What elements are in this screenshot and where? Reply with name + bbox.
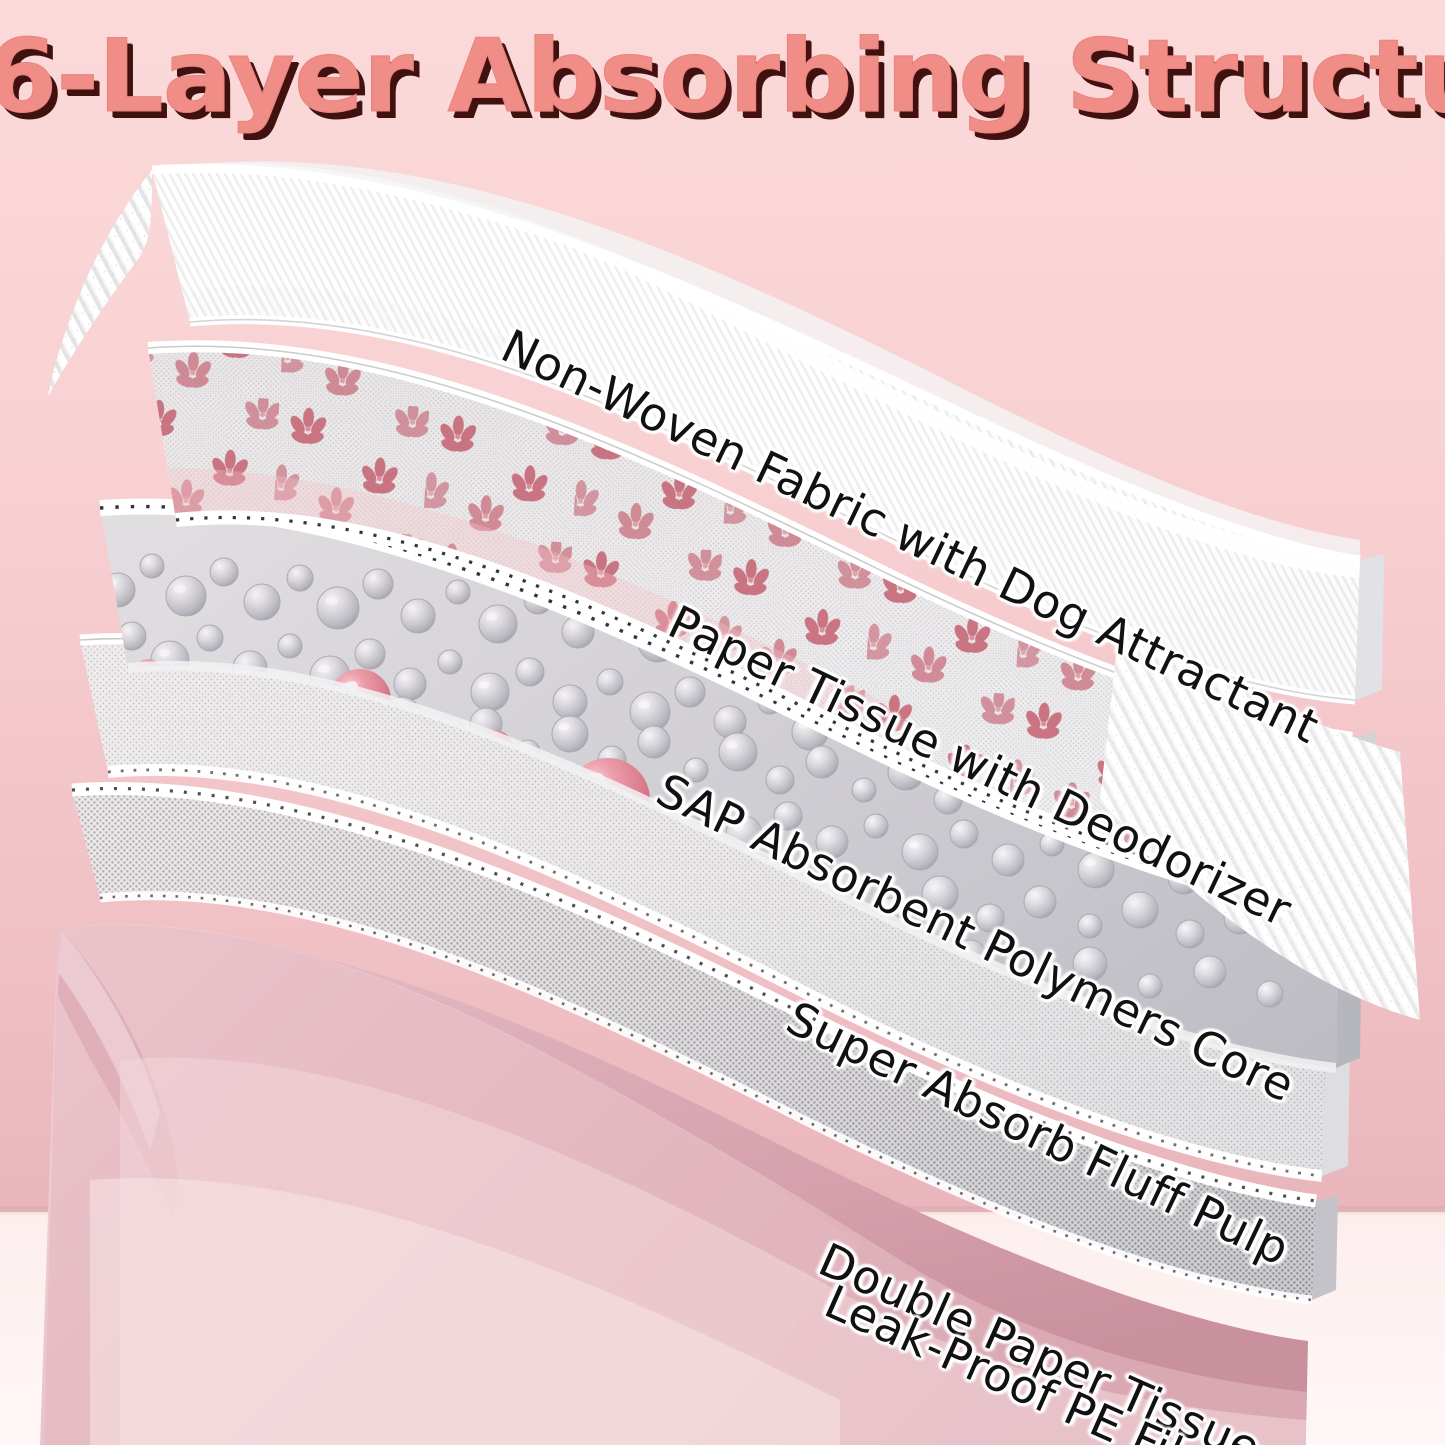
- infographic-canvas: 6-Layer Absorbing Structure: [0, 0, 1445, 1445]
